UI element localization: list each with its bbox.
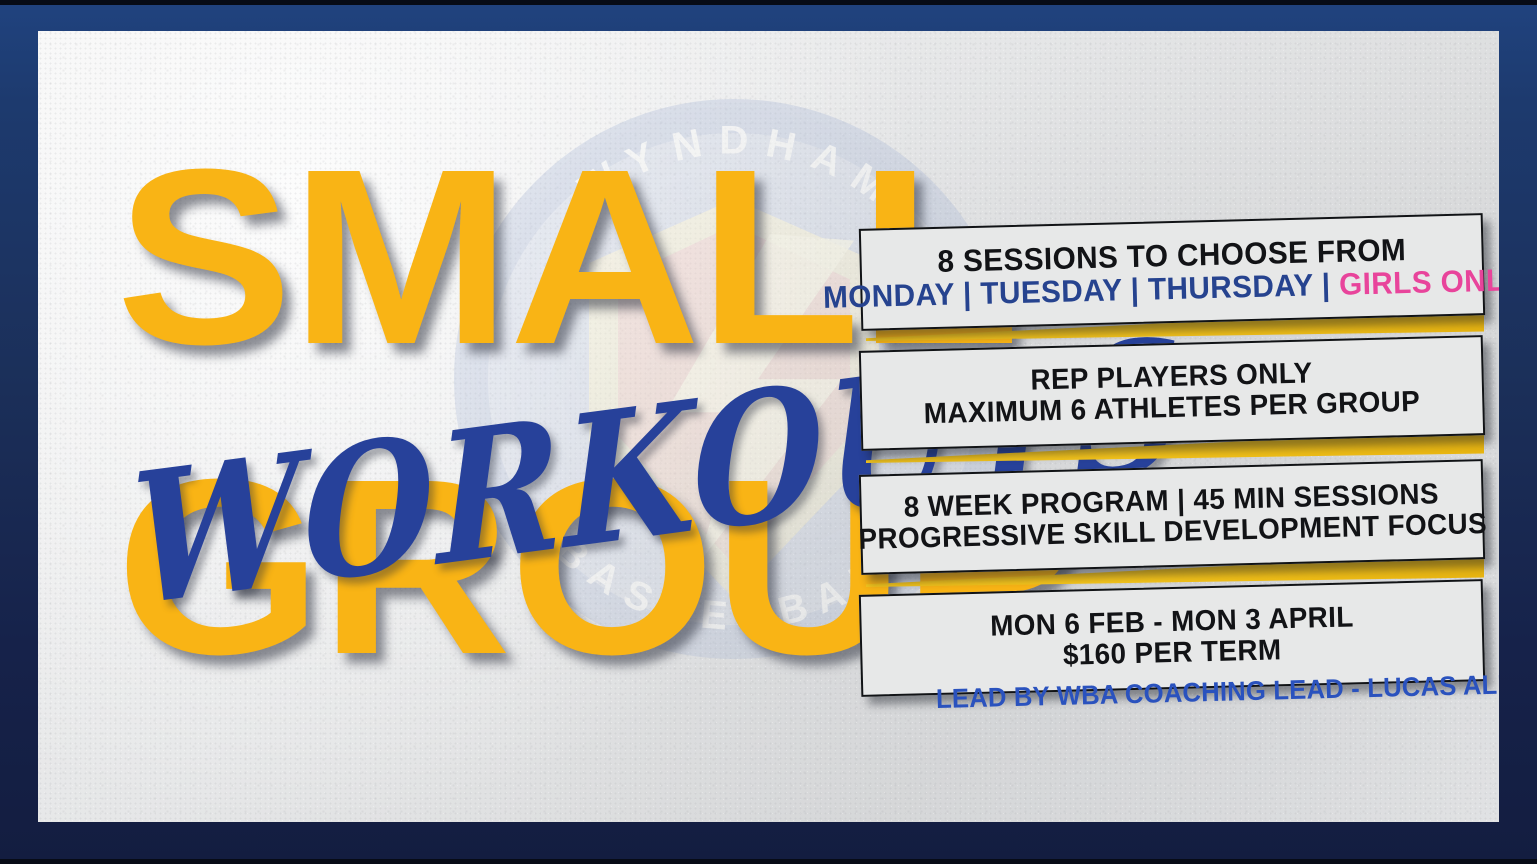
frame-edge-top xyxy=(0,0,1537,5)
banner-1-line-2: MONDAY | TUESDAY | THURSDAY | GIRLS ONLY xyxy=(823,263,1499,314)
info-banner-eligibility: REP PLAYERS ONLY MAXIMUM 6 ATHLETES PER … xyxy=(859,335,1485,451)
poster-root: WYNDHAM BASKETBALL SMALL GROUP WORKOUTS … xyxy=(0,0,1537,864)
info-banner-sessions: 8 SESSIONS TO CHOOSE FROM MONDAY | TUESD… xyxy=(859,213,1485,331)
session-girls-only: GIRLS ONLY xyxy=(1339,262,1499,302)
separator-1: | xyxy=(954,276,981,312)
day-monday: MONDAY xyxy=(823,277,955,315)
title-line-1: SMALL xyxy=(116,159,900,354)
day-thursday: THURSDAY xyxy=(1147,267,1313,306)
info-banner-program: 8 WEEK PROGRAM | 45 MIN SESSIONS PROGRES… xyxy=(859,459,1485,575)
separator-2: | xyxy=(1121,272,1148,308)
day-tuesday: TUESDAY xyxy=(980,272,1122,311)
frame-edge-bottom xyxy=(0,859,1537,864)
poster-title: SMALL GROUP WORKOUTS xyxy=(116,151,856,751)
separator-3: | xyxy=(1312,267,1339,303)
banner-4-line-2: $160 PER TERM xyxy=(1063,635,1282,672)
banner-2-line-2: MAXIMUM 6 ATHLETES PER GROUP xyxy=(924,387,1421,431)
poster-panel: WYNDHAM BASKETBALL SMALL GROUP WORKOUTS … xyxy=(38,31,1499,822)
